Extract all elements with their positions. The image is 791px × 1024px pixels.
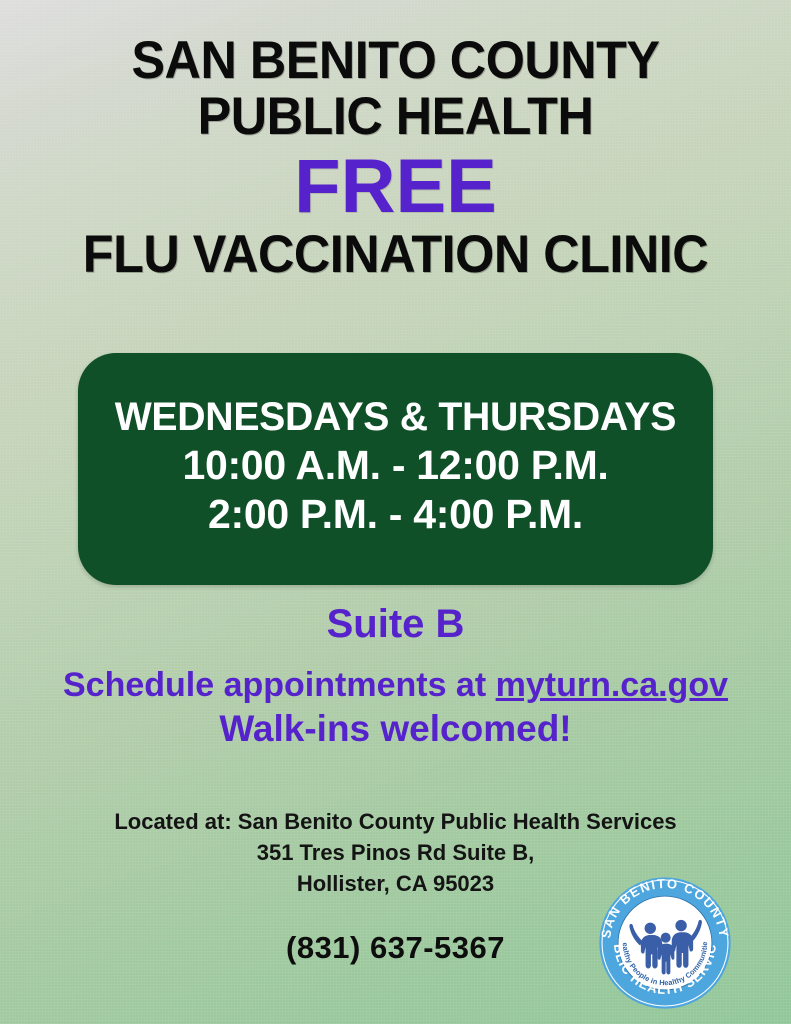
schedule-days: WEDNESDAYS & THURSDAYS: [115, 394, 676, 441]
schedule-time-afternoon: 2:00 P.M. - 4:00 P.M.: [208, 490, 583, 538]
schedule-instruction: Schedule appointments at myturn.ca.gov: [0, 666, 791, 705]
schedule-time-morning: 10:00 A.M. - 12:00 P.M.: [182, 441, 608, 489]
headline-block: SAN BENITO COUNTY PUBLIC HEALTH FREE FLU…: [0, 0, 791, 282]
schedule-instruction-prefix: Schedule appointments at: [63, 666, 496, 704]
page-title-line-1: SAN BENITO COUNTY: [20, 34, 771, 88]
san-benito-county-public-health-seal-icon: SAN BENITO COUNTY PUBLIC HEALTH SERVICES…: [598, 876, 732, 1010]
flyer-poster: SAN BENITO COUNTY PUBLIC HEALTH FREE FLU…: [0, 0, 791, 1024]
page-title-line-4: FLU VACCINATION CLINIC: [20, 228, 771, 282]
free-emphasis-text: FREE: [0, 148, 791, 226]
schedule-panel: WEDNESDAYS & THURSDAYS 10:00 A.M. - 12:0…: [78, 353, 713, 585]
page-title-line-2: PUBLIC HEALTH: [20, 90, 771, 144]
address-line-1: Located at: San Benito County Public Hea…: [0, 806, 791, 837]
address-line-2: 351 Tres Pinos Rd Suite B,: [0, 837, 791, 868]
info-block: Suite B Schedule appointments at myturn.…: [0, 602, 791, 751]
suite-label: Suite B: [0, 602, 791, 646]
walkins-note: Walk-ins welcomed!: [0, 708, 791, 751]
myturn-link[interactable]: myturn.ca.gov: [496, 666, 728, 704]
